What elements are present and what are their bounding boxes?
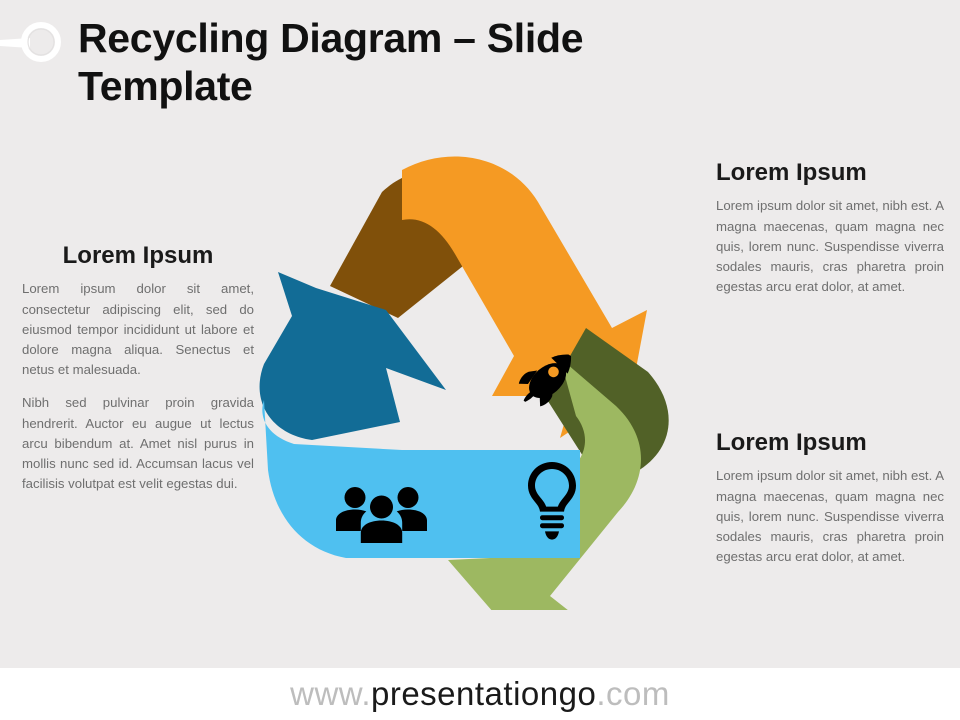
text-block-right-bottom: Lorem Ipsum Lorem ipsum dolor sit amet, … [716,430,944,567]
footer-url-prefix: www. [290,675,371,712]
footer-url-brand: presentationgo [371,675,596,712]
footer-website-url[interactable]: www.presentationgo.com [290,675,670,713]
text-block-right-top-paragraph-1: Lorem ipsum dolor sit amet, nibh est. A … [716,196,944,297]
text-block-left-paragraph-1: Lorem ipsum dolor sit amet, consectetur … [22,279,254,380]
text-block-right-top: Lorem Ipsum Lorem ipsum dolor sit amet, … [716,160,944,297]
footer: www.presentationgo.com [0,668,960,720]
text-block-right-bottom-heading: Lorem Ipsum [716,430,944,456]
recycling-diagram [250,150,710,610]
circle-pin-icon [0,14,70,70]
text-block-right-top-heading: Lorem Ipsum [716,160,944,186]
text-block-right-bottom-paragraph-1: Lorem ipsum dolor sit amet, nibh est. A … [716,466,944,567]
footer-url-suffix: .com [596,675,670,712]
page-title: Recycling Diagram – Slide Template [78,14,718,111]
text-block-left-paragraph-2: Nibh sed pulvinar proin gravida hendreri… [22,393,254,494]
text-block-left-heading: Lorem Ipsum [22,243,254,269]
slide-root: Recycling Diagram – Slide Template Lorem… [0,0,960,720]
text-block-left: Lorem Ipsum Lorem ipsum dolor sit amet, … [22,243,254,494]
